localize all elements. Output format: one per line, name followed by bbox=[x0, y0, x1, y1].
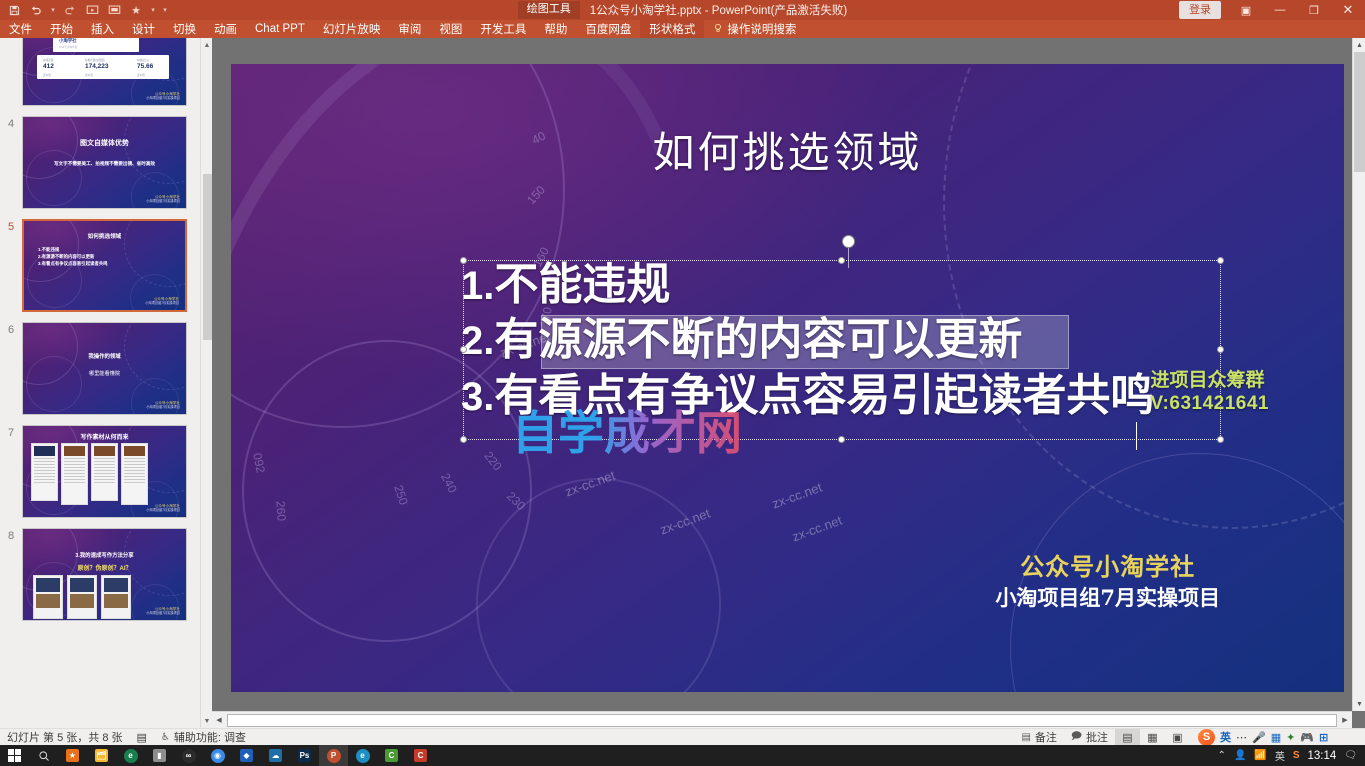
screenshot-image-bottom bbox=[36, 594, 60, 608]
quick-access-toolbar: ▾ ★ ▾ ▾ bbox=[4, 0, 170, 20]
view-normal-button[interactable]: ▤ bbox=[1115, 729, 1140, 746]
thumbnail-stat-value-2: 75.66 bbox=[137, 63, 153, 70]
system-tray: ⌃ 👤 📶 英 S 13:14 🗨 bbox=[1218, 748, 1365, 763]
thumbnail-number-7: 7 bbox=[0, 425, 22, 439]
resize-handle-top-right[interactable] bbox=[1217, 257, 1224, 264]
screenshot-text-line bbox=[124, 473, 145, 474]
tray-chevron-icon[interactable]: ⌃ bbox=[1218, 750, 1226, 761]
ribbon-tab-7[interactable]: 幻灯片放映 bbox=[314, 20, 390, 38]
thumbnail-canvas-5: 如何挑选领域1.不能违规2.有源源不断的内容可以更新3.有看点有争议点容易引起读… bbox=[22, 219, 187, 312]
body-line-text-2: 有源源不断的内容可以更新 bbox=[494, 314, 1022, 365]
view-reading-button[interactable]: ▣ bbox=[1165, 729, 1190, 746]
tray-ime-mode[interactable]: 英 bbox=[1275, 748, 1285, 763]
thumbnail-footer-line2: 小淘项目组7月实操项目 bbox=[146, 96, 180, 100]
app-red-icon: C bbox=[414, 749, 427, 762]
favorite-star-icon[interactable]: ★ bbox=[126, 0, 146, 20]
thumbnail-title: 3.我的速成写作方法分享 bbox=[23, 551, 186, 559]
taskbar-search-icon[interactable] bbox=[29, 745, 58, 766]
scroll-down-icon[interactable]: ▼ bbox=[1353, 697, 1365, 711]
thumbnail-card-top: 小淘学社公众号小淘学社 bbox=[53, 38, 139, 52]
body-line-number-2: 2. bbox=[461, 319, 494, 363]
screenshot-text-line bbox=[64, 479, 85, 480]
title-bar: ▾ ★ ▾ ▾ 绘图工具 1公众号小淘学社.pptx - PowerPoint(… bbox=[0, 0, 1365, 20]
undo-dropdown-icon[interactable]: ▾ bbox=[48, 0, 58, 20]
thumbnail-canvas-3: 成果展示小淘学社公众号小淘学社总阅读量412近30天总推荐量(展现量)174,2… bbox=[22, 38, 187, 106]
text-cursor bbox=[1136, 422, 1137, 450]
thumbnail-canvas-8: 3.我的速成写作方法分享原创？伪原创？AI？公众号小淘学社小淘项目组7月实操项目 bbox=[22, 528, 187, 621]
thumbnail-subtitle: 哪里能看懂院 bbox=[23, 370, 186, 377]
taskbar-chrome[interactable]: ◉ bbox=[203, 745, 232, 766]
thumbnail-number-5: 5 bbox=[0, 219, 22, 233]
taskbar-file-explorer[interactable]: 🗂 bbox=[87, 745, 116, 766]
accessibility-icon: ♿ bbox=[161, 732, 170, 743]
screenshot-text-line bbox=[124, 461, 145, 462]
ribbon-tab-1[interactable]: 开始 bbox=[41, 20, 82, 38]
close-button[interactable]: ✕ bbox=[1331, 0, 1365, 20]
thumbnail-stat-label-0: 总阅读量 bbox=[43, 58, 53, 62]
powerpoint-window: ▾ ★ ▾ ▾ 绘图工具 1公众号小淘学社.pptx - PowerPoint(… bbox=[0, 0, 1365, 766]
screenshot-text-line bbox=[94, 464, 115, 465]
taskbar-clock[interactable]: 13:14 bbox=[1308, 750, 1337, 762]
accessibility-status[interactable]: ♿ 辅助功能: 调查 bbox=[154, 729, 253, 745]
ribbon-tab-10[interactable]: 开发工具 bbox=[471, 20, 535, 38]
taskbar-photoshop[interactable]: Ps bbox=[290, 745, 319, 766]
taskbar-powerpoint[interactable]: P bbox=[319, 745, 348, 766]
body-line-number-1: 1. bbox=[461, 264, 494, 308]
screenshot-text-line bbox=[64, 476, 85, 477]
slide-footer[interactable]: 公众号小淘学社 小淘项目组7月实操项目 bbox=[995, 551, 1220, 612]
thumbnail-footer-line2: 小淘项目组7月实操项目 bbox=[146, 508, 180, 512]
thumbnail-canvas-4: 图文自媒体优势写文字不需要美工、拍视频不需要出镜、省时高效公众号小淘学社小淘项目… bbox=[22, 116, 187, 209]
screenshot-text-line bbox=[124, 464, 145, 465]
screenshot-text-line bbox=[94, 467, 115, 468]
status-bar: 幻灯片 第 5 张，共 8 张 ▤ ♿ 辅助功能: 调查 ▤ 备注 🗩 批注 ▤… bbox=[0, 728, 1365, 745]
thumbnail-title: 写作素材从何而来 bbox=[23, 432, 186, 441]
taskbar-app-blue[interactable]: ◆ bbox=[232, 745, 261, 766]
screenshot-text-line bbox=[94, 461, 115, 462]
resize-handle-bottom-left[interactable] bbox=[460, 436, 467, 443]
screenshot-text-line bbox=[124, 470, 145, 471]
current-slide-canvas[interactable]: 40150160170220230240250260092 如何挑选领域 zx-… bbox=[231, 64, 1344, 692]
tell-me-label: 操作说明搜索 bbox=[727, 21, 796, 37]
body-line-number-3: 3. bbox=[461, 375, 494, 419]
thumbnail-body-lines: 1.不能违规2.有源源不断的内容可以更新3.有看点有争议点容易引起读者共鸣 bbox=[38, 247, 108, 267]
comments-label: 批注 bbox=[1086, 729, 1108, 745]
thumbnail-card-title: 小淘学社 bbox=[59, 38, 77, 44]
customize-qat-icon[interactable]: ▾ bbox=[160, 0, 170, 20]
body-line-1[interactable]: 1.不能违规 bbox=[461, 257, 1241, 312]
thumbnail-stat-label-2: 总收益(元) bbox=[137, 58, 149, 62]
resize-handle-middle-left[interactable] bbox=[460, 346, 467, 353]
thumbnail-screenshot-0 bbox=[31, 443, 58, 501]
taskbar-app-green[interactable]: C bbox=[377, 745, 406, 766]
taskbar-edge[interactable]: e bbox=[116, 745, 145, 766]
thumbnail-card-stats: 总阅读量412近30天总推荐量(展现量)174,223近30天总收益(元)75.… bbox=[37, 55, 169, 79]
screenshot-text-line bbox=[94, 476, 115, 477]
ime-voice-icon[interactable]: 🎤 bbox=[1252, 731, 1266, 744]
thumbnail-canvas-7: 写作素材从何而来公众号小淘学社小淘项目组7月实操项目 bbox=[22, 425, 187, 518]
tick-label-6: 240 bbox=[438, 471, 460, 495]
screenshot-image-top bbox=[104, 578, 128, 592]
notification-center-icon[interactable]: 🗨 bbox=[1344, 750, 1357, 761]
tray-network-icon[interactable]: 📶 bbox=[1254, 750, 1266, 761]
photoshop-icon: Ps bbox=[298, 749, 311, 762]
slide-vertical-scrollbar[interactable]: ▲ ▼ bbox=[1352, 38, 1365, 711]
thumbnail-scroll-down-icon[interactable]: ▼ bbox=[201, 714, 212, 728]
thumbnail-footer: 公众号小淘学社小淘项目组7月实操项目 bbox=[146, 195, 180, 203]
screenshot-text-line bbox=[124, 458, 145, 459]
thumbnail-title: 图文自媒体优势 bbox=[23, 138, 186, 148]
lightbulb-icon bbox=[713, 23, 723, 36]
screenshot-text-line bbox=[34, 464, 55, 465]
screenshot-text-line bbox=[124, 476, 145, 477]
thumbnail-stat-value-1: 174,223 bbox=[85, 63, 109, 70]
screenshot-text-line bbox=[94, 458, 115, 459]
thumbnail-footer: 公众号小淘学社小淘项目组7月实操项目 bbox=[146, 504, 180, 512]
body-line-2[interactable]: 2.有源源不断的内容可以更新 bbox=[461, 312, 1241, 367]
edge-icon: e bbox=[124, 749, 138, 763]
screenshot-image bbox=[94, 446, 115, 456]
thumbnail-scroll-up-icon[interactable]: ▲ bbox=[201, 38, 212, 52]
slide-thumbnail-5[interactable]: 5如何挑选领域1.不能违规2.有源源不断的内容可以更新3.有看点有争议点容易引起… bbox=[0, 214, 200, 317]
screenshot-image bbox=[64, 446, 85, 456]
screenshot-image bbox=[34, 446, 55, 456]
start-slideshow-icon[interactable] bbox=[82, 0, 102, 20]
thumbnail-decoration-4 bbox=[130, 274, 178, 312]
chrome-icon: ◉ bbox=[211, 749, 225, 763]
comment-icon: 🗩 bbox=[1071, 729, 1082, 746]
thumbnail-decoration-2 bbox=[26, 150, 81, 206]
document-title: 1公众号小淘学社.pptx - PowerPoint(产品激活失败) bbox=[590, 2, 848, 18]
screenshot-image-bottom bbox=[104, 594, 128, 608]
usb-device-icon: ▮ bbox=[153, 749, 166, 762]
thumbnail-screenshots bbox=[33, 575, 131, 619]
windows-taskbar: ★🗂e▮∞◉◆☁PsPeCC ⌃ 👤 📶 英 S 13:14 🗨 bbox=[0, 745, 1365, 766]
screenshot-text-line bbox=[34, 479, 55, 480]
thumbnail-scrollbar[interactable]: ▲ ▼ bbox=[200, 38, 212, 728]
thumbnail-footer-line2: 小淘项目组7月实操项目 bbox=[146, 199, 180, 203]
thumbnail-screenshot-1 bbox=[67, 575, 97, 619]
thumbnail-subtitle: 写文字不需要美工、拍视频不需要出镜、省时高效 bbox=[23, 161, 186, 167]
thumbnail-footer: 公众号小淘学社小淘项目组7月实操项目 bbox=[145, 297, 179, 305]
ime-keyboard-icon[interactable]: ▦ bbox=[1271, 731, 1281, 744]
ime-mode-label[interactable]: 英 bbox=[1220, 729, 1231, 745]
thumbnail-scroll-thumb[interactable] bbox=[203, 174, 212, 340]
slide-thumbnail-8[interactable]: 83.我的速成写作方法分享原创？伪原创？AI？公众号小淘学社小淘项目组7月实操项… bbox=[0, 523, 200, 626]
sign-in-button[interactable]: 登录 bbox=[1179, 1, 1221, 19]
taskbar-app-red[interactable]: C bbox=[406, 745, 435, 766]
ribbon-tab-3[interactable]: 设计 bbox=[123, 20, 164, 38]
windows-logo-icon bbox=[8, 749, 21, 762]
thumbnail-canvas-6: 我操作的领域哪里能看懂院公众号小淘学社小淘项目组7月实操项目 bbox=[22, 322, 187, 415]
notes-button[interactable]: ▤ 备注 bbox=[1014, 729, 1063, 745]
star-dropdown-icon[interactable]: ▾ bbox=[148, 0, 158, 20]
resize-handle-bottom-right[interactable] bbox=[1217, 436, 1224, 443]
screenshot-text-line bbox=[94, 473, 115, 474]
ribbon-tab-5[interactable]: 动画 bbox=[205, 20, 246, 38]
screenshot-image bbox=[124, 446, 145, 456]
slide-horizontal-scrollbar[interactable]: ◀ ▶ bbox=[212, 711, 1352, 728]
thumbnail-footer-line2: 小淘项目组7月实操项目 bbox=[145, 301, 179, 305]
tell-me-search[interactable]: 操作说明搜索 bbox=[704, 20, 805, 38]
save-icon[interactable] bbox=[4, 0, 24, 20]
resize-handle-top-left[interactable] bbox=[460, 257, 467, 264]
thumbnail-card-sub: 公众号小淘学社 bbox=[59, 45, 77, 49]
scroll-up-icon[interactable]: ▲ bbox=[1353, 38, 1365, 52]
ribbon-tabs: 文件开始插入设计切换动画Chat PPT幻灯片放映审阅视图开发工具帮助百度网盘形… bbox=[0, 20, 1365, 38]
screenshot-text-line bbox=[124, 467, 145, 468]
taskbar-app-cyan[interactable]: e bbox=[348, 745, 377, 766]
rotation-handle[interactable] bbox=[842, 235, 855, 248]
tick-label-1: 150 bbox=[524, 183, 548, 207]
screenshot-text-line bbox=[64, 467, 85, 468]
sogou-logo-icon[interactable]: S bbox=[1198, 729, 1215, 746]
slideshow-from-current-icon[interactable] bbox=[104, 0, 124, 20]
undo-icon[interactable] bbox=[26, 0, 46, 20]
thumbnail-screenshot-2 bbox=[101, 575, 131, 619]
ribbon-tab-4[interactable]: 切换 bbox=[164, 20, 205, 38]
ribbon-tab-0[interactable]: 文件 bbox=[0, 20, 41, 38]
thumbnail-decoration-2 bbox=[26, 356, 81, 412]
screenshot-text-line bbox=[34, 467, 55, 468]
thumbnail-number-6: 6 bbox=[0, 322, 22, 336]
slide-thumbnail-list: 3成果展示小淘学社公众号小淘学社总阅读量412近30天总推荐量(展现量)174,… bbox=[0, 38, 200, 626]
screenshot-text-line bbox=[34, 461, 55, 462]
scroll-right-icon[interactable]: ▶ bbox=[1338, 712, 1352, 729]
app-teal-icon: ☁ bbox=[269, 749, 282, 762]
ribbon-tab-11[interactable]: 帮助 bbox=[535, 20, 576, 38]
tick-label-5: 230 bbox=[504, 489, 528, 513]
thumbnail-subtitle: 原创？伪原创？AI？ bbox=[23, 563, 186, 572]
slide-thumbnail-6[interactable]: 6我操作的领域哪里能看懂院公众号小淘学社小淘项目组7月实操项目 bbox=[0, 317, 200, 420]
ribbon-display-options-icon[interactable]: ▣ bbox=[1229, 0, 1263, 20]
slide-thumbnail-7[interactable]: 7写作素材从何而来公众号小淘学社小淘项目组7月实操项目 bbox=[0, 420, 200, 523]
ribbon-tab-8[interactable]: 审阅 bbox=[389, 20, 430, 38]
resize-handle-top-center[interactable] bbox=[838, 257, 845, 264]
powerpoint-icon: P bbox=[327, 749, 341, 763]
start-button[interactable] bbox=[0, 745, 29, 766]
screenshot-text-line bbox=[64, 482, 85, 483]
thumbnail-number-8: 8 bbox=[0, 528, 22, 542]
body-line-text-3: 有看点有争议点容易引起读者共鸣 bbox=[494, 370, 1154, 421]
screenshot-image-top bbox=[70, 578, 94, 592]
ribbon-tab-9[interactable]: 视图 bbox=[430, 20, 471, 38]
thumbnail-screenshot-3 bbox=[121, 443, 148, 505]
thumbnail-screenshot-2 bbox=[91, 443, 118, 501]
slide-thumbnail-4[interactable]: 4图文自媒体优势写文字不需要美工、拍视频不需要出镜、省时高效公众号小淘学社小淘项… bbox=[0, 111, 200, 214]
thumbnail-stat-sub-2: 近30天 bbox=[137, 73, 145, 77]
slide-count-label: 幻灯片 第 5 张，共 8 张 bbox=[0, 729, 130, 745]
body-textbox[interactable]: 1.不能违规2.有源源不断的内容可以更新3.有看点有争议点容易引起读者共鸣 bbox=[463, 260, 1221, 440]
accessibility-label: 辅助功能: 调查 bbox=[174, 729, 246, 745]
vertical-scroll-thumb[interactable] bbox=[1354, 52, 1365, 172]
work-area: 3成果展示小淘学社公众号小淘学社总阅读量412近30天总推荐量(展现量)174,… bbox=[0, 38, 1365, 728]
thumbnail-stat-sub-1: 近30天 bbox=[85, 73, 93, 77]
minimize-button[interactable]: — bbox=[1263, 0, 1297, 20]
scroll-left-icon[interactable]: ◀ bbox=[212, 712, 226, 729]
thumbnail-footer-line2: 小淘项目组7月实操项目 bbox=[146, 405, 180, 409]
screenshot-text-line bbox=[94, 482, 115, 483]
thumbnail-footer-line2: 小淘项目组7月实操项目 bbox=[146, 611, 180, 615]
thumbnail-body-line-3: 3.有看点有争议点容易引起读者共鸣 bbox=[38, 261, 108, 268]
ime-more-icon[interactable]: ⋯ bbox=[1236, 731, 1247, 744]
horizontal-scroll-thumb[interactable] bbox=[227, 714, 1337, 727]
slide-thumbnail-3[interactable]: 3成果展示小淘学社公众号小淘学社总阅读量412近30天总推荐量(展现量)174,… bbox=[0, 38, 200, 111]
thumbnail-stat-value-0: 412 bbox=[43, 63, 54, 70]
ime-apps-icon[interactable]: ⊞ bbox=[1319, 731, 1328, 744]
screenshot-text-line bbox=[64, 461, 85, 462]
tick-label-7: 250 bbox=[391, 483, 411, 506]
screenshot-text-line bbox=[94, 479, 115, 480]
screenshot-text-line bbox=[34, 458, 55, 459]
resize-handle-middle-right[interactable] bbox=[1217, 346, 1224, 353]
horizontal-scroll-track[interactable] bbox=[226, 714, 1338, 727]
tick-label-9: 092 bbox=[250, 452, 268, 475]
screenshot-text-line bbox=[64, 470, 85, 471]
slide-footer-line2: 小淘项目组7月实操项目 bbox=[995, 584, 1220, 612]
screenshot-text-line bbox=[64, 458, 85, 459]
thumbnail-screenshot-0 bbox=[33, 575, 63, 619]
notes-label: 备注 bbox=[1035, 729, 1057, 745]
thumbnail-footer: 公众号小淘学社小淘项目组7月实操项目 bbox=[146, 607, 180, 615]
redo-icon[interactable] bbox=[60, 0, 80, 20]
body-text-lines[interactable]: 1.不能违规2.有源源不断的内容可以更新3.有看点有争议点容易引起读者共鸣 bbox=[461, 257, 1241, 423]
screenshot-text-line bbox=[94, 470, 115, 471]
ribbon-tab-bar: 文件开始插入设计切换动画Chat PPT幻灯片放映审阅视图开发工具帮助百度网盘形… bbox=[0, 20, 1365, 38]
ime-toolbox-icon[interactable]: 🎮 bbox=[1300, 731, 1314, 744]
slide-footer-line1: 公众号小淘学社 bbox=[995, 551, 1220, 583]
ime-skin-icon[interactable]: ✦ bbox=[1286, 731, 1295, 744]
dingtalk-icon: ∞ bbox=[182, 749, 196, 763]
ribbon-tab-13[interactable]: 形状格式 bbox=[640, 20, 704, 38]
window-controls: 登录 ▣ — ❐ ✕ bbox=[1179, 0, 1365, 20]
tick-label-8: 260 bbox=[273, 501, 288, 522]
thumbnail-body-line-2: 2.有源源不断的内容可以更新 bbox=[38, 254, 108, 261]
slide-thumbnail-pane[interactable]: 3成果展示小淘学社公众号小淘学社总阅读量412近30天总推荐量(展现量)174,… bbox=[0, 38, 212, 728]
screenshot-text-line bbox=[34, 476, 55, 477]
screenshot-text-line bbox=[34, 470, 55, 471]
comments-button[interactable]: 🗩 批注 bbox=[1064, 729, 1115, 746]
notes-icon: ▤ bbox=[1021, 732, 1030, 743]
taskbar-usb-device[interactable]: ▮ bbox=[145, 745, 174, 766]
screenshot-text-line bbox=[34, 473, 55, 474]
slide-edit-pane: 40150160170220230240250260092 如何挑选领域 zx-… bbox=[212, 38, 1365, 728]
taskbar-app-teal[interactable]: ☁ bbox=[261, 745, 290, 766]
app-cyan-icon: e bbox=[356, 749, 370, 763]
app-orange-icon: ★ bbox=[66, 749, 79, 762]
thumbnail-title: 如何挑选领域 bbox=[24, 232, 185, 240]
thumbnail-screenshots bbox=[31, 443, 148, 505]
taskbar-app-orange[interactable]: ★ bbox=[58, 745, 87, 766]
screenshot-image-bottom bbox=[70, 594, 94, 608]
app-blue-icon: ◆ bbox=[240, 749, 253, 762]
screenshot-text-line bbox=[64, 473, 85, 474]
file-explorer-icon: 🗂 bbox=[95, 749, 108, 762]
taskbar-app-list: ★🗂e▮∞◉◆☁PsPeCC bbox=[58, 745, 435, 766]
taskbar-dingtalk[interactable]: ∞ bbox=[174, 745, 203, 766]
view-slide-sorter-button[interactable]: ▦ bbox=[1140, 729, 1165, 746]
maximize-restore-button[interactable]: ❐ bbox=[1297, 0, 1331, 20]
tray-sogou-icon[interactable]: S bbox=[1293, 750, 1300, 761]
tick-label-4: 220 bbox=[481, 449, 504, 473]
body-line-3[interactable]: 3.有看点有争议点容易引起读者共鸣 bbox=[461, 368, 1241, 423]
ribbon-tab-12[interactable]: 百度网盘 bbox=[576, 20, 640, 38]
context-tab-drawing-tools: 绘图工具 bbox=[518, 1, 580, 19]
thumbnail-footer: 公众号小淘学社小淘项目组7月实操项目 bbox=[146, 401, 180, 409]
thumbnail-body-line-1: 1.不能违规 bbox=[38, 247, 108, 254]
screenshot-text-line bbox=[34, 482, 55, 483]
screenshot-text-line bbox=[64, 464, 85, 465]
thumbnail-stat-sub-0: 近30天 bbox=[43, 73, 51, 77]
app-green-icon: C bbox=[385, 749, 398, 762]
screenshot-text-line bbox=[124, 482, 145, 483]
slide-title-text[interactable]: 如何挑选领域 bbox=[231, 119, 1344, 180]
screenshot-text-line bbox=[124, 479, 145, 480]
thumbnail-screenshot-1 bbox=[61, 443, 88, 505]
body-line-text-1: 不能违规 bbox=[494, 259, 670, 310]
ribbon-tab-6[interactable]: Chat PPT bbox=[246, 20, 314, 38]
document-title-group: 绘图工具 1公众号小淘学社.pptx - PowerPoint(产品激活失败) bbox=[0, 0, 1365, 20]
screenshot-image-top bbox=[36, 578, 60, 592]
ribbon-tab-2[interactable]: 插入 bbox=[82, 20, 123, 38]
resize-handle-bottom-center[interactable] bbox=[838, 436, 845, 443]
thumbnail-footer: 公众号小淘学社小淘项目组7月实操项目 bbox=[146, 92, 180, 100]
thumbnail-title: 我操作的领域 bbox=[23, 352, 186, 360]
thumbnail-stat-label-1: 总推荐量(展现量) bbox=[85, 58, 105, 62]
layout-icon[interactable]: ▤ bbox=[130, 731, 154, 744]
tray-user-icon[interactable]: 👤 bbox=[1234, 750, 1246, 761]
thumbnail-number-4: 4 bbox=[0, 116, 22, 130]
